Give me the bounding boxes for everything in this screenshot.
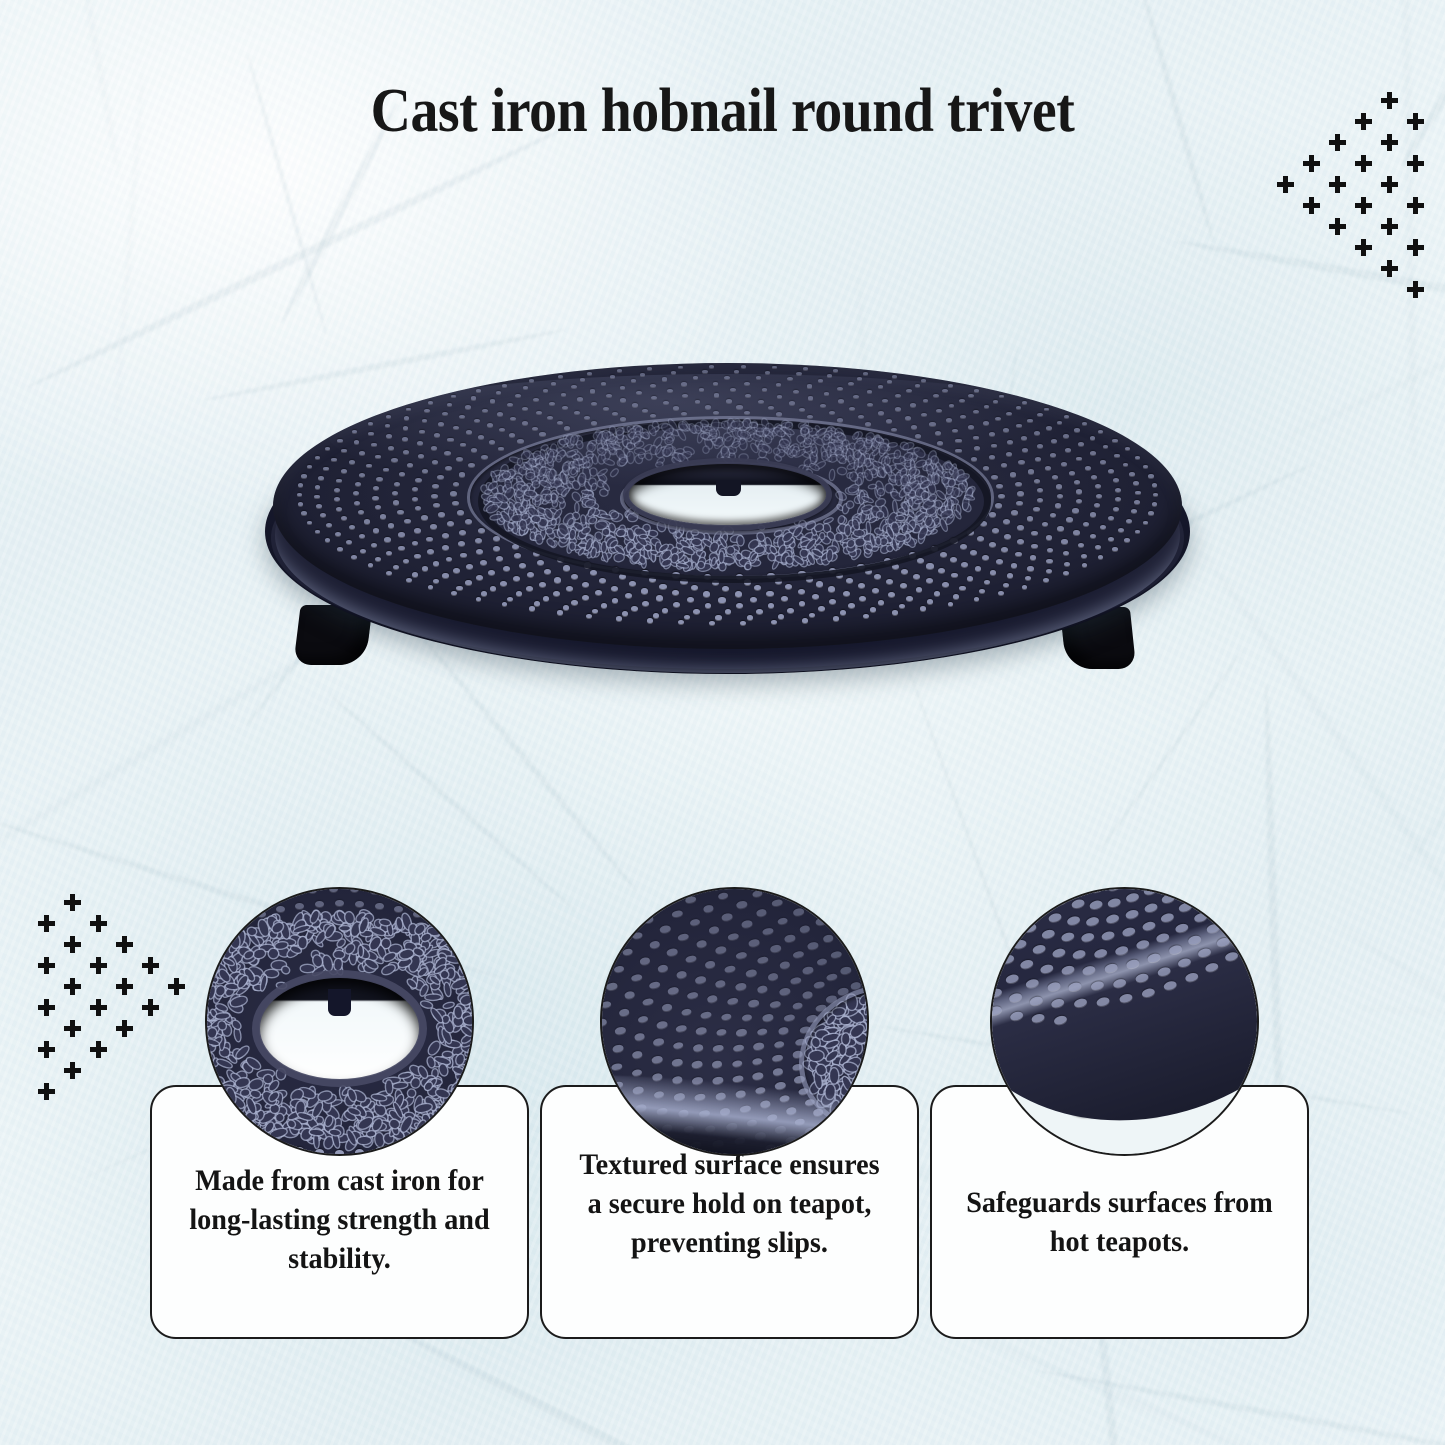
- thumb3-surface: [992, 889, 1257, 1154]
- plus-pattern-top-right: [1295, 88, 1425, 288]
- trivet-hole-lip: [623, 458, 831, 530]
- feature-card-3-text: Safeguards surfaces from hot teapots.: [943, 1183, 1296, 1261]
- feature-thumbnail-2: [600, 887, 869, 1156]
- infographic-canvas: Cast iron hobnail round trivet Made from…: [0, 0, 1445, 1445]
- thumb1-surface: [205, 887, 474, 1156]
- thumb2-surface: [600, 887, 869, 1156]
- thumb3-edge: [992, 889, 1257, 1154]
- hero-product-image: [255, 355, 1200, 715]
- page-title: Cast iron hobnail round trivet: [72, 76, 1373, 147]
- feature-thumbnail-1: [205, 887, 474, 1156]
- trivet-top-face: [273, 363, 1182, 649]
- trivet-disc: [265, 363, 1190, 663]
- feature-card-2-text: Textured surface ensures a secure hold o…: [553, 1145, 906, 1262]
- feature-card-1-text: Made from cast iron for long-lasting str…: [163, 1161, 516, 1278]
- feature-thumbnail-3: [990, 887, 1259, 1156]
- plus-pattern-bottom-left: [30, 890, 160, 1090]
